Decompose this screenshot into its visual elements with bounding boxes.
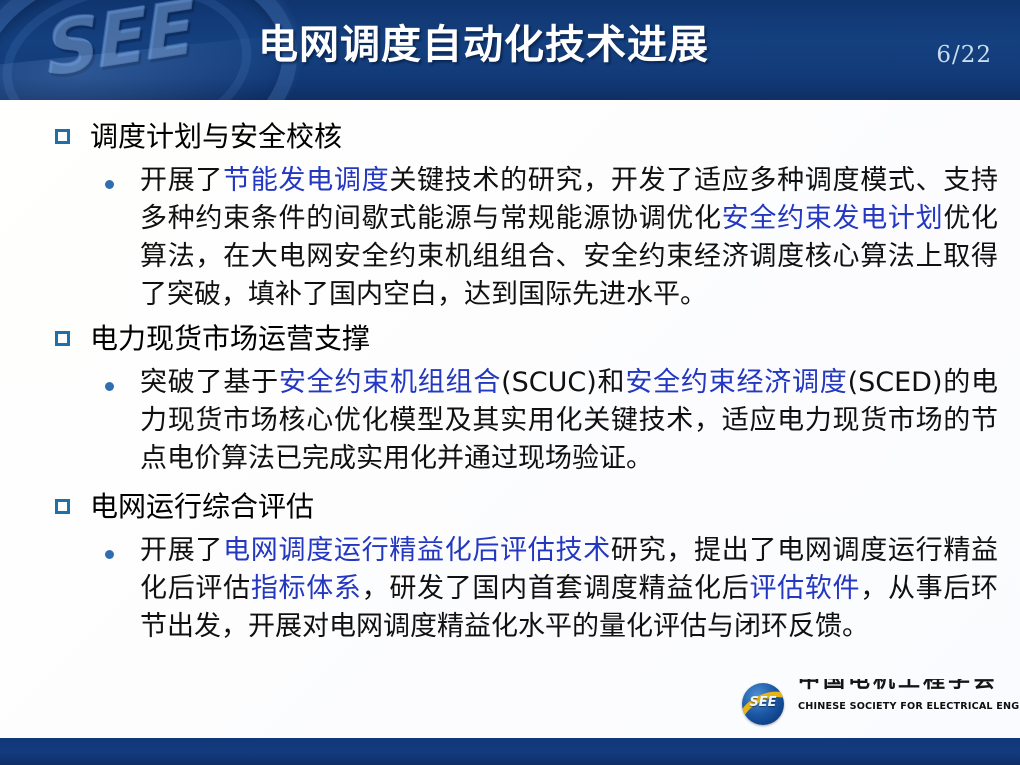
highlighted-text-run: 电网调度运行精益化后评估技术 xyxy=(223,535,611,566)
csee-watermark-inner-ring-icon xyxy=(0,0,262,100)
section-paragraph: 开展了电网调度运行精益化后评估技术研究，提出了电网调度运行精益化后评估指标体系，… xyxy=(140,532,998,646)
section-heading: 电网运行综合评估 xyxy=(90,488,314,526)
csee-watermark-text-icon: SEE xyxy=(45,0,196,94)
section-paragraph: 开展了节能发电调度关键技术的研究，开发了适应多种调度模式、支持多种约束条件的间歇… xyxy=(140,162,998,314)
content-section-1: 调度计划与安全校核 开展了节能发电调度关键技术的研究，开发了适应多种调度模式、支… xyxy=(0,118,1020,314)
org-name-cn: 中国电机工程学会 xyxy=(798,679,998,698)
square-bullet-icon xyxy=(55,499,70,514)
square-bullet-icon xyxy=(55,331,70,346)
square-bullet-icon xyxy=(55,129,70,144)
csee-badge-icon: SEE xyxy=(742,683,784,725)
slide-header: SEE 电网调度自动化技术进展 6/22 xyxy=(0,0,1020,100)
section-bullet-row: 突破了基于安全约束机组组合(SCUC)和安全约束经济调度(SCED)的电力现货市… xyxy=(0,364,1020,478)
text-run: 开展了 xyxy=(140,535,223,566)
section-paragraph: 突破了基于安全约束机组组合(SCUC)和安全约束经济调度(SCED)的电力现货市… xyxy=(140,364,998,478)
highlighted-text-run: 安全约束发电计划 xyxy=(722,203,944,234)
section-bullet-row: 开展了电网调度运行精益化后评估技术研究，提出了电网调度运行精益化后评估指标体系，… xyxy=(0,532,1020,646)
section-heading-row: 调度计划与安全校核 xyxy=(0,118,1020,156)
org-name-en: CHINESE SOCIETY FOR ELECTRICAL ENGINEERI… xyxy=(798,701,1020,713)
section-heading-row: 电力现货市场运营支撑 xyxy=(0,320,1020,358)
highlighted-text-run: 指标体系 xyxy=(251,573,362,604)
csee-footer-logo: SEE 中国电机工程学会 CHINESE SOCIETY FOR ELECTRI… xyxy=(742,681,1002,727)
text-run: (SCUC)和 xyxy=(501,367,625,398)
highlighted-text-run: 节能发电调度 xyxy=(223,165,389,196)
text-run: 突破了基于 xyxy=(140,367,279,398)
org-name-cn-text: 中国电机工程学会 xyxy=(798,679,998,694)
slide-content: 调度计划与安全校核 开展了节能发电调度关键技术的研究，开发了适应多种调度模式、支… xyxy=(0,100,1020,738)
section-heading-row: 电网运行综合评估 xyxy=(0,488,1020,526)
highlighted-text-run: 安全约束经济调度 xyxy=(625,367,847,398)
text-run: 开展了 xyxy=(140,165,223,196)
page-number: 6/22 xyxy=(936,42,992,68)
highlighted-text-run: 评估软件 xyxy=(749,573,860,604)
footer-bar xyxy=(0,738,1020,765)
page-title: 电网调度自动化技术进展 xyxy=(258,20,709,70)
badge-label: SEE xyxy=(742,695,784,710)
highlighted-text-run: 安全约束机组组合 xyxy=(279,367,501,398)
content-section-2: 电力现货市场运营支撑 突破了基于安全约束机组组合(SCUC)和安全约束经济调度(… xyxy=(0,320,1020,478)
round-bullet-icon xyxy=(105,550,114,559)
section-bullet-row: 开展了节能发电调度关键技术的研究，开发了适应多种调度模式、支持多种约束条件的间歇… xyxy=(0,162,1020,314)
round-bullet-icon xyxy=(105,382,114,391)
section-heading: 电力现货市场运营支撑 xyxy=(90,320,370,358)
content-section-3: 电网运行综合评估 开展了电网调度运行精益化后评估技术研究，提出了电网调度运行精益… xyxy=(0,488,1020,646)
round-bullet-icon xyxy=(105,180,114,189)
section-heading: 调度计划与安全校核 xyxy=(90,118,342,156)
slide: SEE 电网调度自动化技术进展 6/22 调度计划与安全校核 开展了节能发电调度… xyxy=(0,0,1020,765)
text-run: ，研发了国内首套调度精益化后 xyxy=(362,573,750,604)
